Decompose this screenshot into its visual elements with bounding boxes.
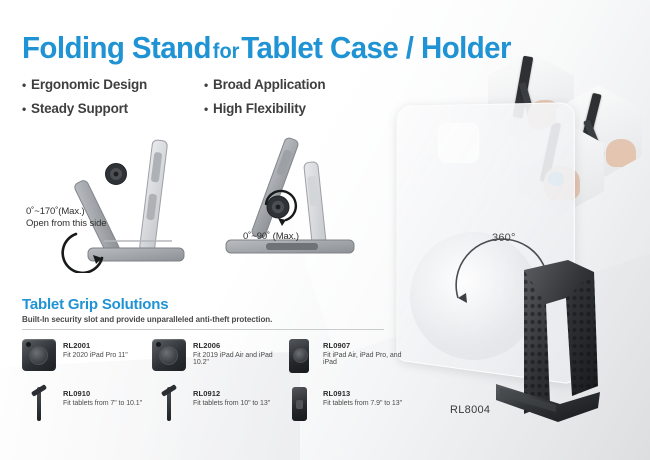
- camera-cutout: [438, 123, 479, 163]
- bullet-icon: •: [22, 79, 26, 91]
- product-thumbnail-rl2001: [22, 339, 56, 373]
- product-grid: RL2001 Fit 2020 iPad Pro 11" RL2006 Fit …: [22, 339, 412, 421]
- rotation-label: 360°: [492, 232, 516, 244]
- title-for: for: [211, 40, 241, 63]
- hinge-knob: [106, 164, 127, 185]
- angle-instruction: Open from this side: [26, 218, 106, 230]
- title-main: Folding Stand: [22, 30, 211, 65]
- product-item[interactable]: RL0907 Fit iPad Air, iPad Pro, and iPad: [282, 339, 412, 373]
- product-sku: RL2001: [63, 341, 128, 350]
- section-divider: [22, 329, 384, 330]
- product-fit: Fit iPad Air, iPad Pro, and iPad: [323, 352, 412, 366]
- product-sku: RL0910: [63, 389, 142, 398]
- product-sku: RL2006: [193, 341, 282, 350]
- product-item[interactable]: RL2001 Fit 2020 iPad Pro 11": [22, 339, 152, 373]
- feature-item: • Steady Support: [22, 101, 204, 116]
- angle-annotation-open: 0˚~170˚(Max.) Open from this side: [26, 206, 106, 230]
- camera-nub-icon: [26, 342, 31, 347]
- folding-stand-black: [494, 254, 634, 430]
- product-thumbnail-rl0913: [282, 387, 316, 421]
- product-thumbnail-rl0910: [22, 387, 56, 421]
- hinge-knob: [267, 196, 289, 218]
- product-fit: Fit tablets from 10" to 13": [193, 400, 270, 407]
- feature-column-left: • Ergonomic Design • Steady Support: [22, 77, 204, 116]
- page-title: Folding StandforTablet Case / Holder: [22, 32, 478, 64]
- grip-block-icon: [296, 400, 303, 409]
- product-sku: RL0913: [323, 389, 402, 398]
- stand-back-arm: [251, 137, 300, 240]
- angle-value: 0˚~90˚ (Max.): [243, 231, 299, 243]
- bullet-icon: •: [204, 79, 208, 91]
- bullet-icon: •: [22, 103, 26, 115]
- product-fit: Fit tablets from 7" to 10.1": [63, 400, 142, 407]
- product-fit: Fit 2019 iPad Air and iPad 10.2": [193, 352, 282, 366]
- stand-front-arm: [304, 161, 327, 246]
- camera-nub-icon: [156, 342, 161, 347]
- grip-heading: Tablet Grip Solutions: [22, 296, 412, 313]
- feature-label: Ergonomic Design: [31, 77, 147, 92]
- product-thumbnail-rl0907: [282, 339, 316, 373]
- feature-label: High Flexibility: [213, 101, 306, 116]
- product-item[interactable]: RL0913 Fit tablets from 7.9" to 13": [282, 387, 412, 421]
- product-fit: Fit 2020 iPad Pro 11": [63, 352, 128, 359]
- product-thumbnail-rl2006: [152, 339, 186, 373]
- product-thumbnail-rl0912: [152, 387, 186, 421]
- product-fit: Fit tablets from 7.9" to 13": [323, 400, 402, 407]
- grip-ring-icon: [293, 348, 308, 363]
- grip-ring-icon: [29, 346, 48, 365]
- feature-item: • Broad Application: [204, 77, 325, 92]
- product-sku: RL0912: [193, 389, 270, 398]
- product-item[interactable]: RL2006 Fit 2019 iPad Air and iPad 10.2": [152, 339, 282, 373]
- stand-back-arm: [139, 140, 168, 253]
- product-sku: RL0907: [323, 341, 412, 350]
- feature-label: Steady Support: [31, 101, 128, 116]
- hero-model-label: RL8004: [450, 404, 490, 416]
- title-rest: Tablet Case / Holder: [241, 30, 511, 65]
- angle-value: 0˚~170˚(Max.): [26, 206, 106, 218]
- bullet-icon: •: [204, 103, 208, 115]
- angle-annotation-low: 0˚~90˚ (Max.): [243, 231, 299, 243]
- feature-label: Broad Application: [213, 77, 325, 92]
- grip-solutions-section: Tablet Grip Solutions Built-In security …: [22, 296, 412, 421]
- product-item[interactable]: RL0912 Fit tablets from 10" to 13": [152, 387, 282, 421]
- grip-ring-icon: [159, 346, 178, 365]
- feature-column-right: • Broad Application • High Flexibility: [204, 77, 325, 116]
- feature-item: • Ergonomic Design: [22, 77, 204, 92]
- grip-subtitle: Built-In security slot and provide unpar…: [22, 315, 412, 324]
- product-item[interactable]: RL0910 Fit tablets from 7" to 10.1": [22, 387, 152, 421]
- feature-item: • High Flexibility: [204, 101, 325, 116]
